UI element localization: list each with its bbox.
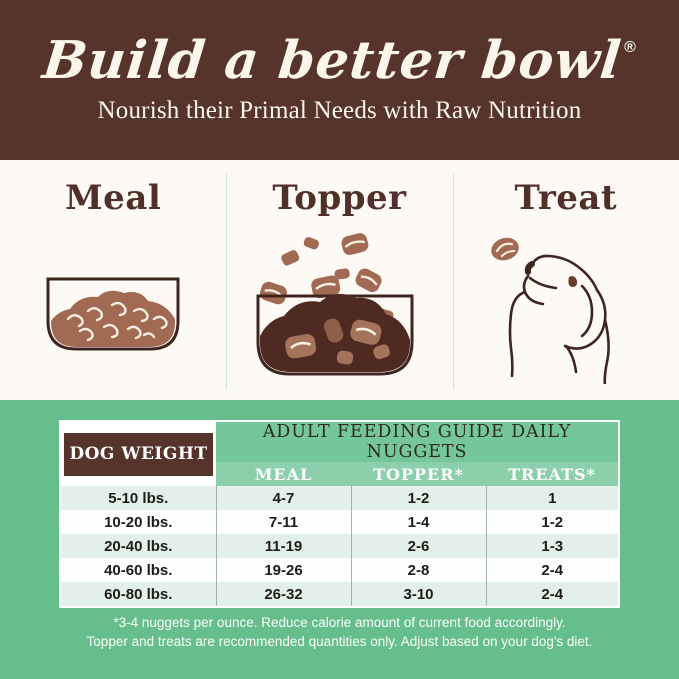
dog-weight-header-cell: DOG WEIGHT xyxy=(61,422,216,486)
cell-treats: 1-3 xyxy=(486,534,618,558)
table-row: 40-60 lbs. 19-26 2-8 2-4 xyxy=(61,558,618,582)
cell-meal: 11-19 xyxy=(216,534,351,558)
cell-topper: 2-6 xyxy=(351,534,486,558)
cell-meal: 19-26 xyxy=(216,558,351,582)
cell-weight: 20-40 lbs. xyxy=(61,534,216,558)
footnote: *3-4 nuggets per ounce. Reduce calorie a… xyxy=(0,613,679,651)
header-banner: Build a better bowl ® Nourish their Prim… xyxy=(0,0,679,160)
table-header-row: DOG WEIGHT ADULT FEEDING GUIDE DAILY NUG… xyxy=(61,422,618,462)
section-meal: Meal xyxy=(0,160,226,400)
guide-header-label: ADULT FEEDING GUIDE DAILY NUGGETS xyxy=(216,422,618,462)
cell-topper: 1-2 xyxy=(351,486,486,510)
footnote-line-1: *3-4 nuggets per ounce. Reduce calorie a… xyxy=(0,613,679,632)
cell-meal: 26-32 xyxy=(216,582,351,606)
cell-weight: 10-20 lbs. xyxy=(61,510,216,534)
cell-meal: 4-7 xyxy=(216,486,351,510)
dog-weight-header-label: DOG WEIGHT xyxy=(64,433,213,476)
cell-weight: 60-80 lbs. xyxy=(61,582,216,606)
column-header-treats: TREATS* xyxy=(486,462,618,486)
page-title: Build a better bowl xyxy=(40,35,624,87)
cell-treats: 1-2 xyxy=(486,510,618,534)
feeding-guide-table: DOG WEIGHT ADULT FEEDING GUIDE DAILY NUG… xyxy=(61,422,618,606)
table-row: 20-40 lbs. 11-19 2-6 1-3 xyxy=(61,534,618,558)
bowl-with-nuggets-icon xyxy=(0,218,226,400)
cell-treats: 2-4 xyxy=(486,582,618,606)
section-heading-topper: Topper xyxy=(272,178,406,218)
cell-weight: 5-10 lbs. xyxy=(61,486,216,510)
table-row: 60-80 lbs. 26-32 3-10 2-4 xyxy=(61,582,618,606)
footnote-line-2: Topper and treats are recommended quanti… xyxy=(0,632,679,651)
registered-trademark-icon: ® xyxy=(624,39,636,57)
feeding-guide-table-frame: DOG WEIGHT ADULT FEEDING GUIDE DAILY NUG… xyxy=(59,420,620,608)
page-subtitle: Nourish their Primal Needs with Raw Nutr… xyxy=(98,97,582,125)
cell-topper: 3-10 xyxy=(351,582,486,606)
cell-weight: 40-60 lbs. xyxy=(61,558,216,582)
sections-row: Meal xyxy=(0,160,679,400)
section-heading-treat: Treat xyxy=(515,178,618,218)
bowl-with-falling-nuggets-icon xyxy=(226,218,452,400)
table-row: 5-10 lbs. 4-7 1-2 1 xyxy=(61,486,618,510)
column-header-meal: MEAL xyxy=(216,462,351,486)
cell-topper: 2-8 xyxy=(351,558,486,582)
dog-head-with-nugget-icon xyxy=(453,218,679,400)
title-wrap: Build a better bowl ® xyxy=(43,35,636,87)
cell-treats: 2-4 xyxy=(486,558,618,582)
section-heading-meal: Meal xyxy=(65,178,161,218)
section-treat: Treat xyxy=(453,160,679,400)
table-row: 10-20 lbs. 7-11 1-4 1-2 xyxy=(61,510,618,534)
feeding-guide-section: DOG WEIGHT ADULT FEEDING GUIDE DAILY NUG… xyxy=(0,400,679,679)
cell-treats: 1 xyxy=(486,486,618,510)
infographic-page: Build a better bowl ® Nourish their Prim… xyxy=(0,0,679,679)
column-header-topper: TOPPER* xyxy=(351,462,486,486)
section-topper: Topper xyxy=(226,160,452,400)
cell-topper: 1-4 xyxy=(351,510,486,534)
cell-meal: 7-11 xyxy=(216,510,351,534)
